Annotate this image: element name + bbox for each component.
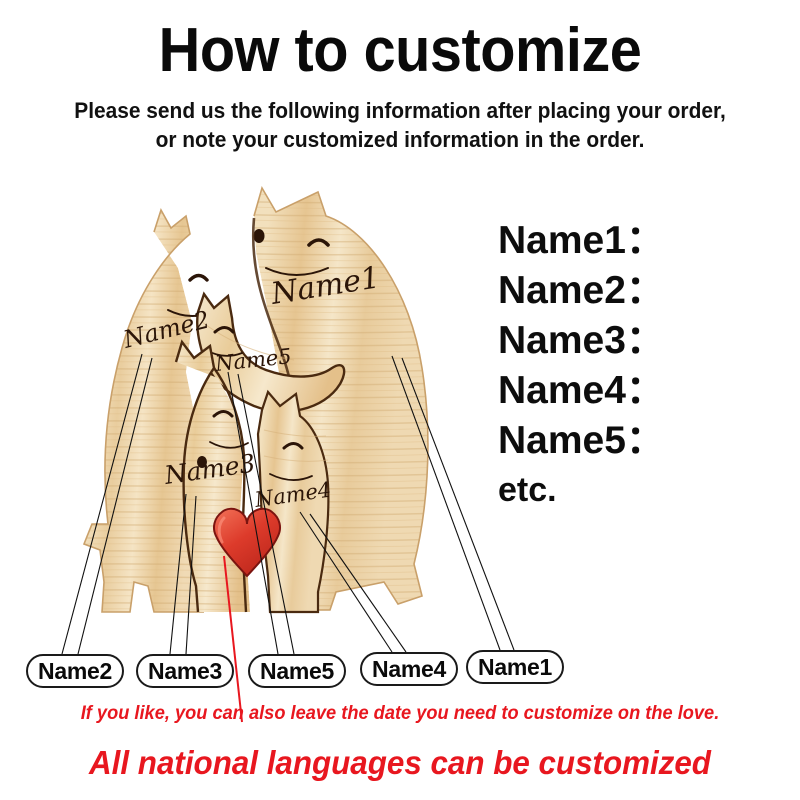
page-subtitle: Please send us the following information… bbox=[20, 96, 780, 154]
callout-name5: Name5 bbox=[248, 654, 346, 688]
callout-name1: Name1 bbox=[466, 650, 564, 684]
name-list-item-etc: etc. bbox=[498, 466, 788, 514]
page-title: How to customize bbox=[28, 18, 772, 84]
subtitle-line-2: or note your customized information in t… bbox=[20, 125, 780, 154]
bear-left-eye-icon bbox=[190, 276, 207, 281]
subtitle-line-1: Please send us the following information… bbox=[20, 96, 780, 125]
customization-instruction-image: How to customize Please send us the foll… bbox=[0, 0, 800, 800]
callout-name3: Name3 bbox=[136, 654, 234, 688]
callout-name2: Name2 bbox=[26, 654, 124, 688]
name-list-item-5: Name5： bbox=[498, 416, 788, 466]
name-list-item-1: Name1： bbox=[498, 216, 788, 266]
name-list-item-4: Name4： bbox=[498, 366, 788, 416]
languages-headline: All national languages can be customized bbox=[20, 743, 780, 783]
name-list-item-3: Name3： bbox=[498, 316, 788, 366]
wooden-bear-family-sculpture: Name1 Name2 Name5 Name3 Name4 bbox=[18, 172, 458, 632]
callout-name4: Name4 bbox=[360, 652, 458, 686]
date-on-heart-note: If you like, you can also leave the date… bbox=[16, 702, 784, 726]
name-entry-list: Name1： Name2： Name3： Name4： Name5： etc. bbox=[498, 216, 788, 514]
name-list-item-2: Name2： bbox=[498, 266, 788, 316]
bear-right-nose-icon bbox=[254, 229, 265, 243]
